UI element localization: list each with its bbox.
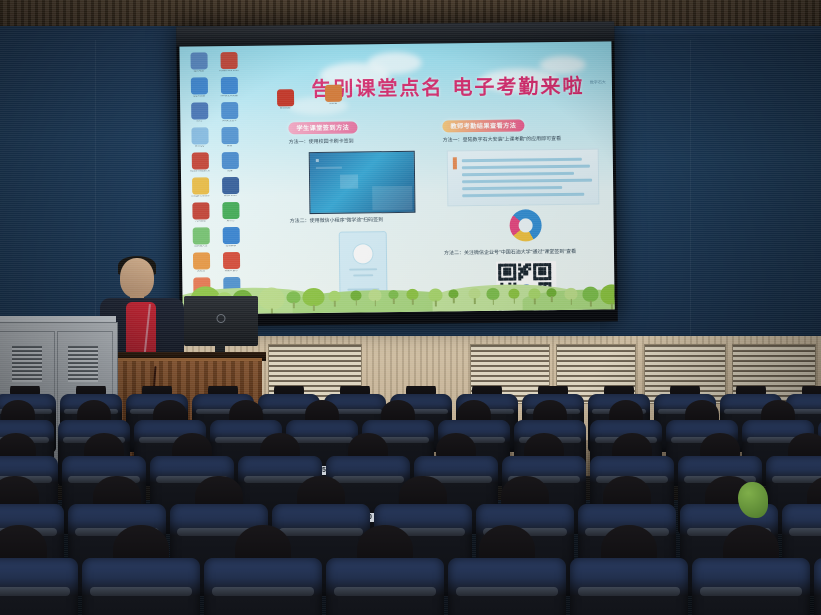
tree-illustration (582, 287, 598, 302)
dell-logo-icon (217, 314, 226, 323)
tree-illustration (328, 291, 340, 302)
auditorium-seat[interactable]: 11 (692, 558, 810, 615)
desktop-icon[interactable]: 腾讯视频 (272, 89, 298, 110)
blackboard-seam (690, 40, 691, 340)
desktop-icon[interactable]: 迅雷 (217, 152, 243, 173)
desktop-icon[interactable]: 我的电脑 (186, 52, 212, 73)
student-panel-heading: 学生课堂签到方法 (288, 121, 357, 134)
tree-illustration (468, 288, 480, 299)
green-plant (738, 482, 768, 518)
tree-illustration (546, 288, 556, 297)
auditorium-seat[interactable] (814, 558, 821, 615)
desktop-icon-label: WPS (186, 120, 212, 123)
seat-band (212, 587, 313, 597)
audience-seating: 13111517121416910131115171214169101311 (0, 386, 821, 615)
desktop-icon-glyph (191, 127, 208, 144)
desktop-icon[interactable]: Adobe Reader XI (187, 152, 213, 173)
seat-band (456, 587, 557, 597)
desktop-icon-glyph (221, 102, 238, 119)
desktop-icon-glyph (222, 177, 239, 194)
desktop-icon-glyph (276, 89, 293, 106)
seat-band (700, 587, 801, 597)
tree-illustration (508, 289, 519, 299)
desktop-icon-label: 微信 (217, 145, 243, 148)
desktop-icon-glyph (220, 52, 237, 69)
desktop-icon[interactable]: WPS (186, 102, 212, 123)
desktop-icon[interactable]: 爱奇艺 (217, 202, 243, 223)
attendance-table-screenshot (447, 148, 600, 206)
teacher-method-one: 方法一：登陆数字石大安装"上课考勤"的应用即可查看 (443, 135, 607, 145)
attendance-donut-chart (509, 209, 541, 241)
student-method-one: 方法一：使用校园卡刷卡签到 (289, 138, 435, 148)
desktop-icon-label: 快剪辑 (320, 103, 346, 106)
desktop-icon-label: 腾讯视频 (272, 107, 298, 110)
tree-illustration (486, 288, 499, 300)
auditorium-seat[interactable]: 9 (0, 558, 78, 615)
desktop-icon-glyph (192, 202, 209, 219)
tree-illustration (428, 288, 442, 301)
tree-illustration (258, 287, 284, 309)
dell-monitor (184, 296, 258, 346)
desktop-icon-glyph (190, 77, 207, 94)
desktop-icon-label: 360安全卫士 (216, 120, 242, 123)
desktop-icon[interactable]: PowerPoint 2013 (215, 52, 241, 73)
seat-band (279, 528, 363, 536)
desktop-icon[interactable]: 微信 (216, 127, 242, 148)
tree-illustration (388, 290, 398, 299)
desktop-icon-label: PowerPoint 2013 (216, 70, 242, 73)
desktop-icon-glyph (191, 152, 208, 169)
desktop-icon-label: 360安全浏览器 (216, 95, 242, 98)
desktop-icon[interactable]: 几何画板 (187, 202, 213, 223)
tree-illustration (600, 284, 614, 304)
desktop-icon[interactable]: Google Chrome (187, 177, 213, 198)
tree-illustration (528, 288, 540, 299)
desktop-icon-glyph (190, 52, 207, 69)
desktop-icon[interactable]: 搜狗输入法 (188, 227, 214, 248)
desktop-icon-label: QQ浏览器 (186, 95, 212, 98)
front-wall-blackboard-right (600, 34, 821, 346)
desktop-icon[interactable]: 控制面板 (218, 227, 244, 248)
desktop-icon[interactable]: QQ浏览器 (186, 77, 212, 98)
desktop-icon-glyph (220, 77, 237, 94)
desktop-icon-glyph (222, 202, 239, 219)
desktop-icon-glyph (222, 227, 239, 244)
auditorium-seat[interactable] (82, 558, 200, 615)
tree-illustration (286, 291, 300, 303)
desktop-icon[interactable]: Word 2013 (217, 177, 243, 198)
seat-band (0, 587, 70, 597)
desktop-icon-glyph (192, 227, 209, 244)
tree-illustration (368, 289, 381, 301)
desktop-icon-label: 腾讯QQ (187, 145, 213, 148)
tree-illustration (406, 289, 418, 300)
projection-screen: 我的电脑PowerPoint 2013QQ浏览器360安全浏览器WPS360安全… (176, 21, 618, 326)
seat-band (90, 587, 191, 597)
desktop-icon-glyph (221, 152, 238, 169)
tree-illustration (350, 290, 361, 300)
desktop-icon[interactable]: 快剪辑 (320, 85, 346, 106)
desktop-icon[interactable]: 腾讯QQ (186, 127, 212, 148)
seat-band (789, 528, 821, 536)
tree-illustration (564, 288, 577, 300)
desktop-icon-label: Word 2013 (217, 195, 243, 198)
seat-band (334, 587, 435, 597)
presentation-slide: 我的电脑PowerPoint 2013QQ浏览器360安全浏览器WPS360安全… (179, 41, 614, 314)
desktop-icon-label: 几何画板 (188, 220, 214, 223)
desktop-icon-label: 我的电脑 (186, 70, 212, 73)
auditorium-seat[interactable] (326, 558, 444, 615)
auditorium-seat[interactable]: 10 (204, 558, 322, 615)
desktop-icon[interactable]: 360安全浏览器 (216, 77, 242, 98)
desktop-icon-label: 搜狗输入法 (188, 245, 214, 248)
teacher-panel-heading: 教师考勤结果查看方法 (442, 119, 524, 132)
desktop-icon-label: 迅雷 (217, 170, 243, 173)
desktop-icon-glyph (191, 102, 208, 119)
desktop-icon-glyph (324, 85, 341, 102)
auditorium-seat[interactable]: 13 (448, 558, 566, 615)
desktop-icon-glyph (192, 177, 209, 194)
tree-illustration (448, 289, 458, 298)
blackboard-seam (95, 40, 96, 340)
desktop-icon-label: Google Chrome (187, 195, 213, 198)
desktop-icon-glyph (221, 127, 238, 144)
lecture-hall-scene: 我的电脑PowerPoint 2013QQ浏览器360安全浏览器WPS360安全… (0, 0, 821, 615)
desktop-icon[interactable]: 360安全卫士 (216, 102, 242, 123)
slide-watermark: 数字石大 (590, 79, 606, 85)
card-reader-screenshot (309, 151, 416, 214)
desktop-icon-label: Adobe Reader XI (187, 170, 213, 173)
seat-band (291, 437, 353, 443)
auditorium-seat[interactable] (570, 558, 688, 615)
student-method-two: 方法二：使用微信小程序"微学途"扫码签到 (290, 216, 436, 226)
seat-band (578, 587, 679, 597)
tree-illustration (302, 288, 324, 306)
desktop-icon-label: 控制面板 (218, 245, 244, 248)
desktop-icon-label: 爱奇艺 (218, 220, 244, 223)
seat-band (332, 476, 404, 483)
